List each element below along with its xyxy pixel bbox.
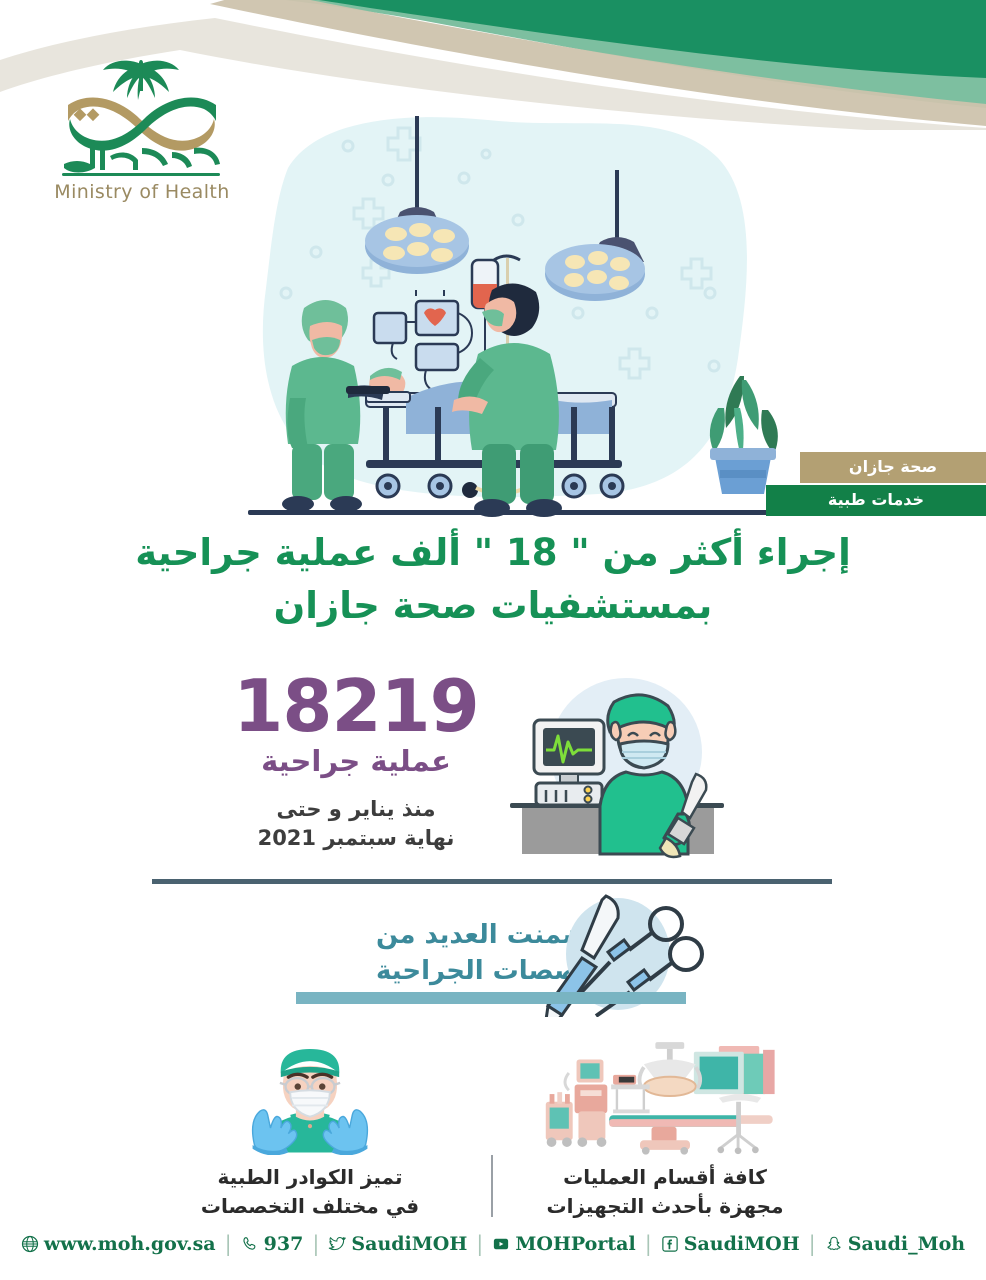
feature-1-line-2: في مختلف التخصصات bbox=[145, 1192, 475, 1221]
twitter-icon bbox=[328, 1235, 346, 1253]
footer-snapchat-label: Saudi_Moh bbox=[848, 1233, 965, 1255]
feature-operating-rooms: كافة أقسام العمليات مجهزة بأحدث التجهيزا… bbox=[500, 1035, 830, 1221]
feature-operating-rooms-caption: كافة أقسام العمليات مجهزة بأحدث التجهيزا… bbox=[500, 1163, 830, 1221]
footer-phone-label: 937 bbox=[264, 1233, 304, 1255]
footer-item-snapchat[interactable]: Saudi_Moh bbox=[816, 1233, 974, 1255]
footer-item-twitter[interactable]: SaudiMOH bbox=[319, 1233, 476, 1255]
feature-0-line-2: مجهزة بأحدث التجهيزات bbox=[500, 1192, 830, 1221]
badge-category: خدمات طبية bbox=[766, 485, 986, 516]
badge-region: صحة جازان bbox=[800, 452, 986, 483]
statistic-period-line-2: نهاية سبتمبر 2021 bbox=[216, 824, 496, 852]
footer-facebook-label: SaudiMOH bbox=[684, 1233, 800, 1255]
statistic-value: 18219 bbox=[216, 672, 496, 740]
facebook-icon bbox=[661, 1235, 679, 1253]
footer-item-facebook[interactable]: SaudiMOH bbox=[652, 1233, 809, 1255]
footer-item-phone[interactable]: 937 bbox=[232, 1233, 313, 1255]
operating-room-equipment-illustration bbox=[500, 1035, 830, 1155]
feature-0-line-1: كافة أقسام العمليات bbox=[500, 1163, 830, 1192]
section-divider bbox=[152, 879, 832, 884]
footer-separator: | bbox=[476, 1232, 483, 1256]
statistic-section: 18219 عملية جراحية منذ يناير و حتى نهاية… bbox=[0, 672, 986, 867]
phone-icon bbox=[241, 1235, 259, 1253]
female-surgeon-illustration bbox=[145, 1035, 475, 1155]
moh-logo: Ministry of Health bbox=[42, 52, 242, 204]
footer-separator: | bbox=[312, 1232, 319, 1256]
snapchat-icon bbox=[825, 1235, 843, 1253]
features-vertical-divider bbox=[491, 1155, 493, 1217]
statistic-period-line-1: منذ يناير و حتى bbox=[216, 795, 496, 823]
globe-icon bbox=[21, 1235, 39, 1253]
feature-medical-staff: تميز الكوادر الطبية في مختلف التخصصات bbox=[145, 1035, 475, 1221]
footer-item-youtube[interactable]: MOHPortal bbox=[483, 1233, 644, 1255]
feature-1-line-1: تميز الكوادر الطبية bbox=[145, 1163, 475, 1192]
page-title: إجراء أكثر من " 18 " ألف عملية جراحية بم… bbox=[55, 527, 931, 632]
statistic-period: منذ يناير و حتى نهاية سبتمبر 2021 bbox=[216, 795, 496, 852]
footer-separator: | bbox=[809, 1232, 816, 1256]
feature-medical-staff-caption: تميز الكوادر الطبية في مختلف التخصصات bbox=[145, 1163, 475, 1221]
headline-line-1: إجراء أكثر من " 18 " ألف عملية جراحية bbox=[55, 527, 931, 580]
surgeon-with-monitor-illustration bbox=[500, 666, 738, 866]
footer-separator: | bbox=[645, 1232, 652, 1256]
footer-youtube-label: MOHPortal bbox=[515, 1233, 635, 1255]
footer-contact-bar: www.moh.gov.sa | 937 | SaudiMOH | MOHPor… bbox=[0, 1232, 986, 1256]
footer-separator: | bbox=[225, 1232, 232, 1256]
footer-website-label: www.moh.gov.sa bbox=[44, 1233, 216, 1255]
footer-item-website[interactable]: www.moh.gov.sa bbox=[12, 1233, 225, 1255]
youtube-icon bbox=[492, 1235, 510, 1253]
statistic-label: عملية جراحية bbox=[216, 744, 496, 779]
features-section: كافة أقسام العمليات مجهزة بأحدث التجهيزا… bbox=[0, 1035, 986, 1210]
footer-twitter-label: SaudiMOH bbox=[351, 1233, 467, 1255]
specialties-underline-bar bbox=[296, 992, 686, 1004]
logo-en-text: Ministry of Health bbox=[54, 181, 229, 203]
statistic-text-block: 18219 عملية جراحية منذ يناير و حتى نهاية… bbox=[216, 672, 496, 852]
operating-theatre-illustration bbox=[248, 108, 796, 520]
headline-line-2: بمستشفيات صحة جازان bbox=[55, 580, 931, 633]
badge-stack: صحة جازان خدمات طبية bbox=[766, 452, 986, 516]
